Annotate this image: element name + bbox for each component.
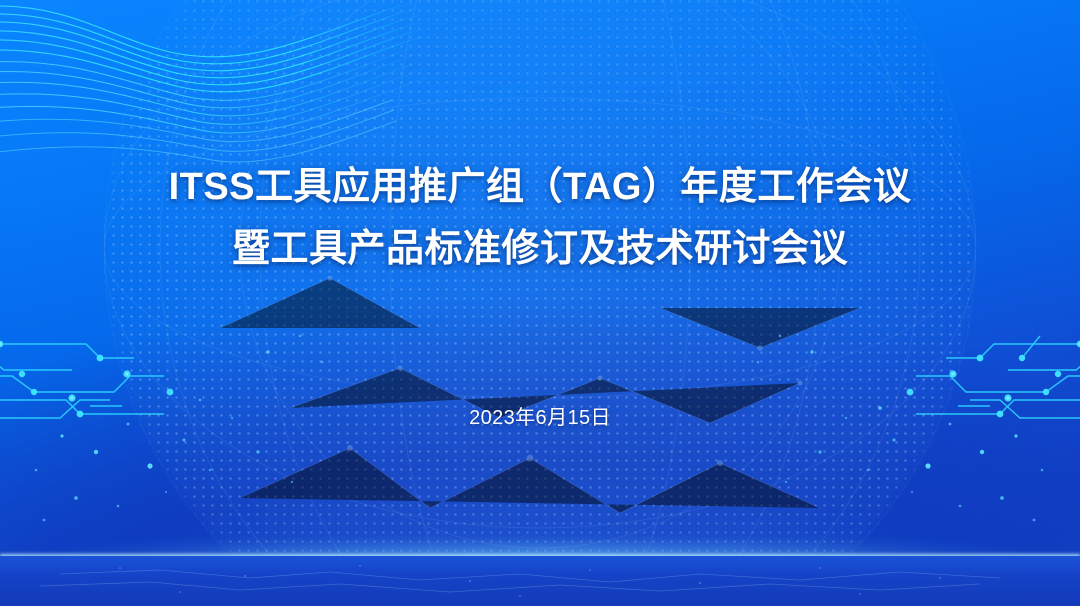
globe-decoration bbox=[100, 0, 980, 568]
circuit-decoration-right bbox=[826, 318, 1080, 478]
particle-decoration bbox=[0, 0, 1080, 606]
title-block: ITSS工具应用推广组（TAG）年度工作会议 暨工具产品标准修订及技术研讨会议 bbox=[0, 168, 1080, 268]
globe-dot-matrix bbox=[100, 0, 980, 568]
circuit-decoration-left bbox=[0, 318, 254, 478]
city-skyline-decoration bbox=[0, 430, 1080, 560]
globe-sphere bbox=[100, 0, 980, 568]
title-line-1: ITSS工具应用推广组（TAG）年度工作会议 bbox=[0, 168, 1080, 206]
globe-mesh-lines bbox=[100, 0, 980, 568]
title-line-2: 暨工具产品标准修订及技术研讨会议 bbox=[0, 230, 1080, 268]
event-date: 2023年6月15日 bbox=[0, 401, 1080, 430]
horizon-glow-wide bbox=[0, 542, 1080, 568]
water-reflection bbox=[0, 556, 1080, 606]
horizon-glow-line bbox=[0, 552, 1080, 562]
presentation-slide: ITSS工具应用推广组（TAG）年度工作会议 暨工具产品标准修订及技术研讨会议 … bbox=[0, 0, 1080, 606]
